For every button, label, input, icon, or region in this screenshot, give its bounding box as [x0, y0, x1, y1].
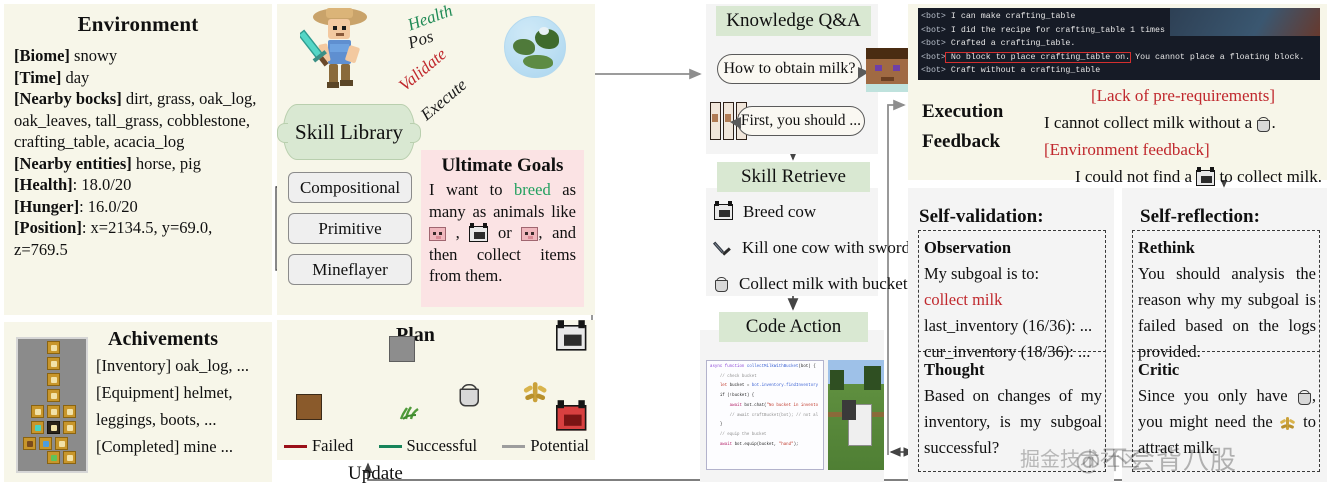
env-key: [Hunger] — [14, 197, 79, 216]
plan-legend: Failed Successful Potential — [284, 436, 589, 456]
feedback-body-suffix: . — [1271, 113, 1275, 132]
code-action-band: Code Action — [719, 312, 868, 342]
skill-retrieve-item-breed-cow[interactable]: Breed cow — [714, 202, 816, 222]
env-line-biome: [Biome] snowy — [14, 45, 262, 67]
cow-icon — [1196, 170, 1215, 186]
legend-item-potential: Potential — [502, 436, 589, 456]
environment-lines: [Biome] snowy [Time] day [Nearby bocks] … — [14, 45, 262, 260]
achievements-lines: [Inventory] oak_log, ... [Equipment] hel… — [96, 352, 271, 460]
chat-text: I did the recipe for crafting_table 1 ti… — [946, 26, 1165, 35]
bucket-icon — [1256, 117, 1271, 132]
env-line-health: [Health]: 18.0/20 — [14, 174, 262, 196]
feedback-tag-env: [Environment feedback] — [1044, 136, 1322, 163]
goal-text-after: , and then collect items from them. — [429, 223, 576, 285]
ultimate-goals-text: I want to breed as many as animals like … — [429, 179, 576, 287]
goal-text-before: I want to — [429, 180, 514, 199]
execution-feedback-body: [Lack of pre-requirements] I cannot coll… — [1044, 82, 1322, 190]
chat-line: <bot> Crafted a crafting_table. — [921, 37, 1317, 51]
observation-last-inventory: last_inventory (16/36): ... — [924, 316, 1092, 335]
env-line-position: [Position]: x=2134.5, y=69.0, z=769.5 — [14, 217, 262, 260]
environment-panel: Environment [Biome] snowy [Time] day [Ne… — [4, 4, 272, 315]
skill-item-label: Breed cow — [743, 202, 816, 222]
env-value: horse, pig — [132, 154, 201, 173]
observation-subgoal: collect milk — [924, 290, 1002, 309]
legend-swatch-failed — [284, 445, 307, 448]
pig-icon — [521, 227, 538, 241]
ultimate-goals-title: Ultimate Goals — [429, 155, 576, 177]
skill-library-banner: Skill Library — [283, 104, 415, 160]
self-reflection-heading: Self-reflection: — [1140, 206, 1260, 228]
skill-level-compositional[interactable]: Compositional — [288, 172, 412, 203]
env-line-nearby-entities: [Nearby entities] horse, pig — [14, 153, 262, 175]
feedback-body-suffix: to collect milk. — [1215, 167, 1322, 186]
env-key: [Nearby entities] — [14, 154, 132, 173]
achievements-title: Achivements — [108, 328, 218, 351]
rethink-block: Rethink You should analysis the reason w… — [1138, 235, 1316, 365]
chat-tag: <bot> — [921, 53, 946, 62]
feedback-label-line2: Feedback — [922, 127, 1032, 157]
env-value: : 18.0/20 — [73, 175, 132, 194]
env-line-hunger: [Hunger]: 16.0/20 — [14, 196, 262, 218]
red-cow-icon — [556, 404, 575, 422]
oak_log-block-icon — [296, 394, 322, 420]
chat-tag: <bot> — [921, 12, 946, 21]
critic-title: Critic — [1138, 360, 1179, 379]
critic-text-before: Since you only have — [1138, 386, 1297, 405]
legend-item-successful: Successful — [379, 436, 478, 456]
chat-tag: <bot> — [921, 26, 946, 35]
cow-icon — [556, 324, 575, 342]
legend-swatch-potential — [502, 445, 525, 448]
bubble-tail — [730, 117, 741, 129]
chat-text-suffix: You cannot place a floating block. — [1130, 53, 1304, 62]
code-snippet[interactable]: async function collectMilkWithBucket(bot… — [706, 360, 824, 470]
chat-line: <bot> Craft without a crafting_table — [921, 64, 1317, 78]
feedback-body-env: I could not find a to collect milk. — [1044, 163, 1322, 190]
feedback-body-prereq: I cannot collect milk without a . — [1044, 109, 1322, 136]
environment-title: Environment — [14, 12, 262, 37]
env-line-nearby-blocks: [Nearby bocks] dirt, grass, oak_log, oak… — [14, 88, 262, 153]
ach-line-inventory: [Inventory] oak_log, ... — [96, 352, 271, 379]
legend-item-failed: Failed — [284, 436, 353, 456]
chat-line: <bot> I did the recipe for crafting_tabl… — [921, 24, 1317, 38]
observation-title: Observation — [924, 238, 1011, 257]
question-bubble: How to obtain milk? — [717, 54, 862, 84]
feedback-tag-prereq: [Lack of pre-requirements] — [1044, 82, 1322, 109]
skill-retrieve-band: Skill Retrieve — [717, 162, 870, 192]
minecraft-agent-avatar-icon — [300, 6, 378, 90]
legend-label-potential: Potential — [530, 436, 589, 456]
skill-retrieve-item-kill-cow[interactable]: Kill one cow with sword — [714, 238, 910, 258]
env-key: [Nearby bocks] — [14, 89, 122, 108]
skill-item-label: Collect milk with bucket — [739, 274, 908, 294]
feedback-body-text: I cannot collect milk without a — [1044, 113, 1256, 132]
knowledge-qa-band: Knowledge Q&A — [716, 6, 871, 36]
skill-item-label: Kill one cow with sword — [742, 238, 910, 258]
minecraft-world-globe-icon — [504, 16, 566, 78]
steve-head-icon — [866, 48, 910, 92]
chat-text: Craft without a crafting_table — [946, 66, 1100, 75]
watermark-handle: @不会背八股 — [1075, 440, 1237, 477]
bucket-icon — [714, 277, 729, 292]
rethink-text: You should analysis the reason why my su… — [1138, 264, 1316, 361]
wheat-icon — [1279, 415, 1296, 431]
answer-text: First, you should ... — [741, 112, 861, 130]
chat-line: <bot> I can make crafting_table — [921, 10, 1317, 24]
diagram-canvas: Environment [Biome] snowy [Time] day [Ne… — [0, 0, 1331, 486]
feedback-tag-text: [Environment feedback] — [1044, 140, 1210, 159]
ultimate-goals-panel: Ultimate Goals I want to breed as many a… — [421, 150, 584, 307]
inventory-grid-icon — [16, 337, 88, 473]
legend-label-failed: Failed — [312, 436, 353, 456]
env-line-time: [Time] day — [14, 67, 262, 89]
chat-tag: <bot> — [921, 39, 946, 48]
cobblestone-block-icon — [389, 336, 415, 362]
feedback-body-text: I could not find a — [1075, 167, 1196, 186]
skill-level-mineflayer[interactable]: Mineflayer — [288, 254, 412, 285]
update-loop-label: Update — [348, 463, 403, 485]
env-value: snowy — [70, 46, 117, 65]
env-value: day — [61, 68, 89, 87]
cow-icon — [469, 226, 488, 242]
ach-line-equipment: [Equipment] helmet, leggings, boots, ... — [96, 379, 271, 433]
feedback-tag-text: [Lack of pre-requirements] — [1091, 86, 1275, 105]
feedback-label-line1: Execution — [922, 97, 1032, 127]
minecraft-gameplay-screenshot — [828, 360, 884, 470]
chat-text: Crafted a crafting_table. — [946, 39, 1075, 48]
sword-icon — [714, 239, 732, 257]
pig-icon — [429, 227, 446, 241]
question-text: How to obtain milk? — [724, 60, 856, 78]
cow-icon — [714, 204, 733, 220]
skill-retrieve-item-collect-milk[interactable]: Collect milk with bucket — [714, 274, 908, 294]
self-validation-heading: Self-validation: — [919, 206, 1044, 228]
env-value: : 16.0/20 — [79, 197, 138, 216]
minecraft-chat-log: <bot> I can make crafting_table <bot> I … — [918, 8, 1320, 80]
execution-feedback-label: Execution Feedback — [922, 97, 1032, 157]
observation-block: Observation My subgoal is to: collect mi… — [924, 235, 1102, 365]
observation-line1: My subgoal is to: — [924, 264, 1039, 283]
legend-swatch-successful — [379, 445, 402, 448]
rethink-title: Rethink — [1138, 238, 1195, 257]
legend-label-successful: Successful — [407, 436, 478, 456]
grass-tuft-icon — [398, 404, 420, 418]
chat-text: I can make crafting_table — [946, 12, 1075, 21]
bucket-icon — [458, 382, 480, 406]
ach-line-completed: [Completed] mine ... — [96, 433, 271, 460]
chat-text-highlighted: No block to place crafting_table on. — [946, 53, 1130, 62]
wheat-icon — [522, 378, 548, 404]
env-key: [Position] — [14, 218, 82, 237]
goal-keyword: breed — [514, 180, 551, 199]
bucket-icon — [1297, 390, 1312, 405]
env-key: [Health] — [14, 175, 73, 194]
skill-level-primitive[interactable]: Primitive — [288, 213, 412, 244]
env-key: [Biome] — [14, 46, 70, 65]
thought-title: Thought — [924, 360, 985, 379]
chat-line-highlighted: <bot> No block to place crafting_table o… — [921, 51, 1317, 65]
env-key: [Time] — [14, 68, 61, 87]
answer-bubble: First, you should ... — [737, 106, 865, 136]
chat-tag: <bot> — [921, 66, 946, 75]
